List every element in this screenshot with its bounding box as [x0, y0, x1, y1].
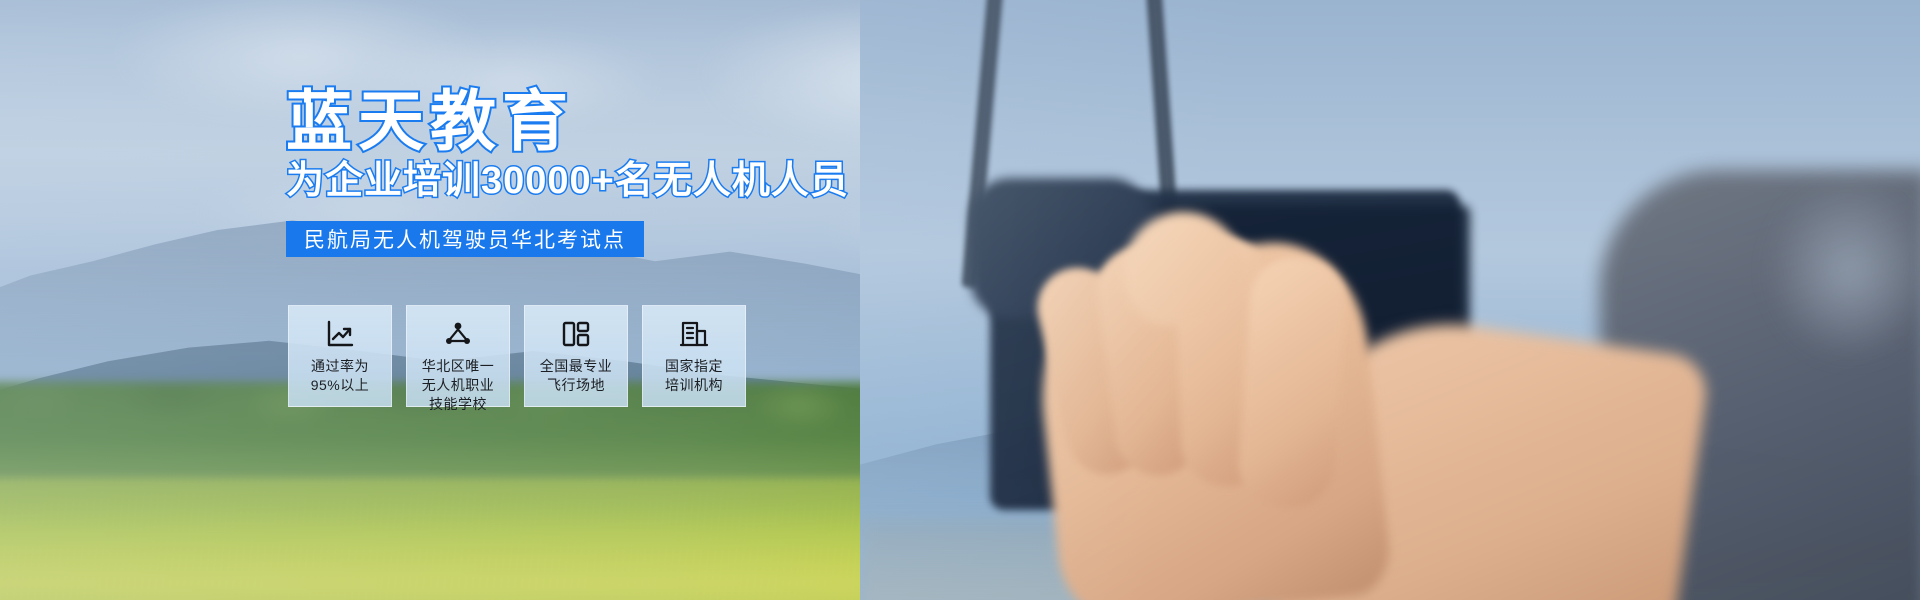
feature-card-state-designated[interactable]: 国家指定 培训机构: [642, 305, 746, 407]
feature-card-caption: 全国最专业 飞行场地: [540, 357, 613, 395]
feature-card-caption: 华北区唯一 无人机职业 技能学校: [422, 357, 495, 414]
exam-site-badge: 民航局无人机驾驶员华北考试点: [286, 221, 644, 257]
feature-card-vocational-school[interactable]: 华北区唯一 无人机职业 技能学校: [406, 305, 510, 407]
caption-line: 国家指定: [665, 357, 723, 376]
banner-content: 蓝天教育 为企业培训30000+名无人机人员 民航局无人机驾驶员华北考试点 通过…: [0, 0, 1920, 600]
caption-line: 通过率为: [311, 357, 370, 376]
trending-up-chart-icon: [324, 318, 356, 350]
caption-line: 95%以上: [311, 376, 370, 395]
feature-card-list: 通过率为 95%以上 华北区唯一 无人: [288, 305, 746, 407]
caption-line: 华北区唯一: [422, 357, 495, 376]
network-nodes-icon: [442, 318, 474, 350]
caption-line: 无人机职业: [422, 376, 495, 395]
banner-headline: 蓝天教育: [286, 88, 574, 154]
caption-line: 全国最专业: [540, 357, 613, 376]
banner-subheadline: 为企业培训30000+名无人机人员: [286, 162, 849, 200]
feature-card-pass-rate[interactable]: 通过率为 95%以上: [288, 305, 392, 407]
caption-line: 培训机构: [665, 376, 723, 395]
exam-site-badge-label: 民航局无人机驾驶员华北考试点: [304, 224, 626, 254]
feature-card-caption: 通过率为 95%以上: [311, 357, 370, 395]
caption-line: 技能学校: [422, 395, 495, 414]
layout-panels-icon: [560, 318, 592, 350]
building-office-icon: [678, 318, 710, 350]
feature-card-flight-field[interactable]: 全国最专业 飞行场地: [524, 305, 628, 407]
hero-banner: 蓝天教育 为企业培训30000+名无人机人员 民航局无人机驾驶员华北考试点 通过…: [0, 0, 1920, 600]
caption-line: 飞行场地: [540, 376, 613, 395]
feature-card-caption: 国家指定 培训机构: [665, 357, 723, 395]
